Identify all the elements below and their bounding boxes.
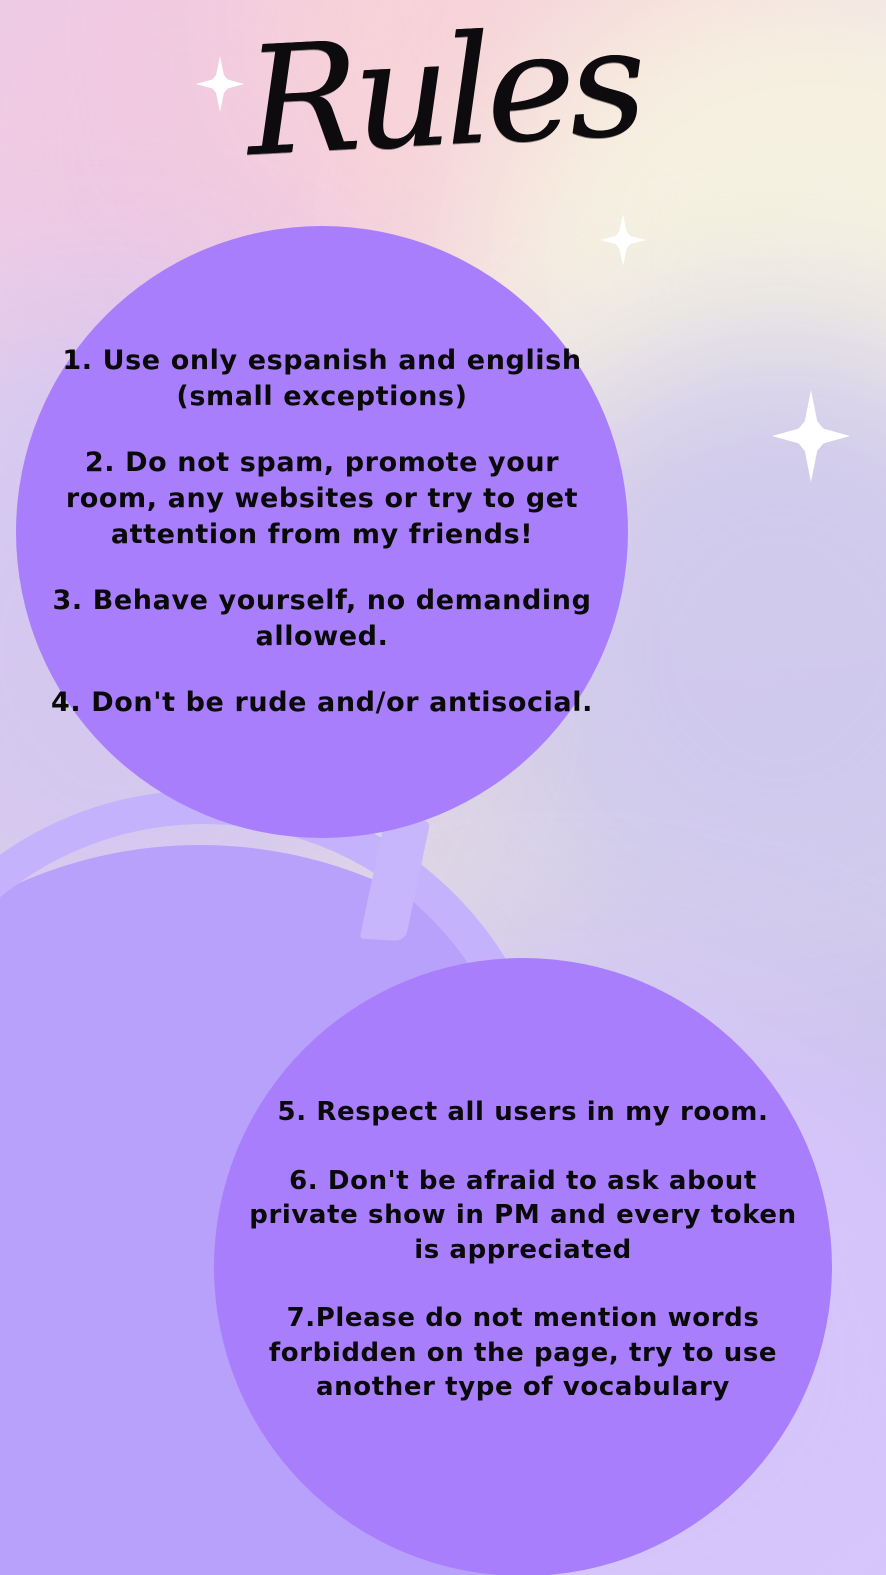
rule-item: 2. Do not spam, promote your room, any w…: [40, 445, 604, 553]
balloon-bottom: 5. Respect all users in my room. 6. Don'…: [214, 958, 832, 1575]
rules-poster: Rules 1. Use only espanish and english (…: [0, 0, 886, 1575]
rule-item: 1. Use only espanish and english (small …: [40, 343, 604, 415]
rules-list-top: 1. Use only espanish and english (small …: [40, 343, 604, 720]
balloon-top: 1. Use only espanish and english (small …: [16, 226, 628, 838]
rules-list-bottom: 5. Respect all users in my room. 6. Don'…: [236, 1095, 810, 1439]
rule-item: 7.Please do not mention words forbidden …: [236, 1301, 810, 1405]
rule-item: 4. Don't be rude and/or antisocial.: [40, 685, 604, 721]
rule-item: 5. Respect all users in my room.: [236, 1095, 810, 1130]
rule-item: 3. Behave yourself, no demanding allowed…: [40, 583, 604, 655]
rule-item: 6. Don't be afraid to ask about private …: [236, 1164, 810, 1268]
